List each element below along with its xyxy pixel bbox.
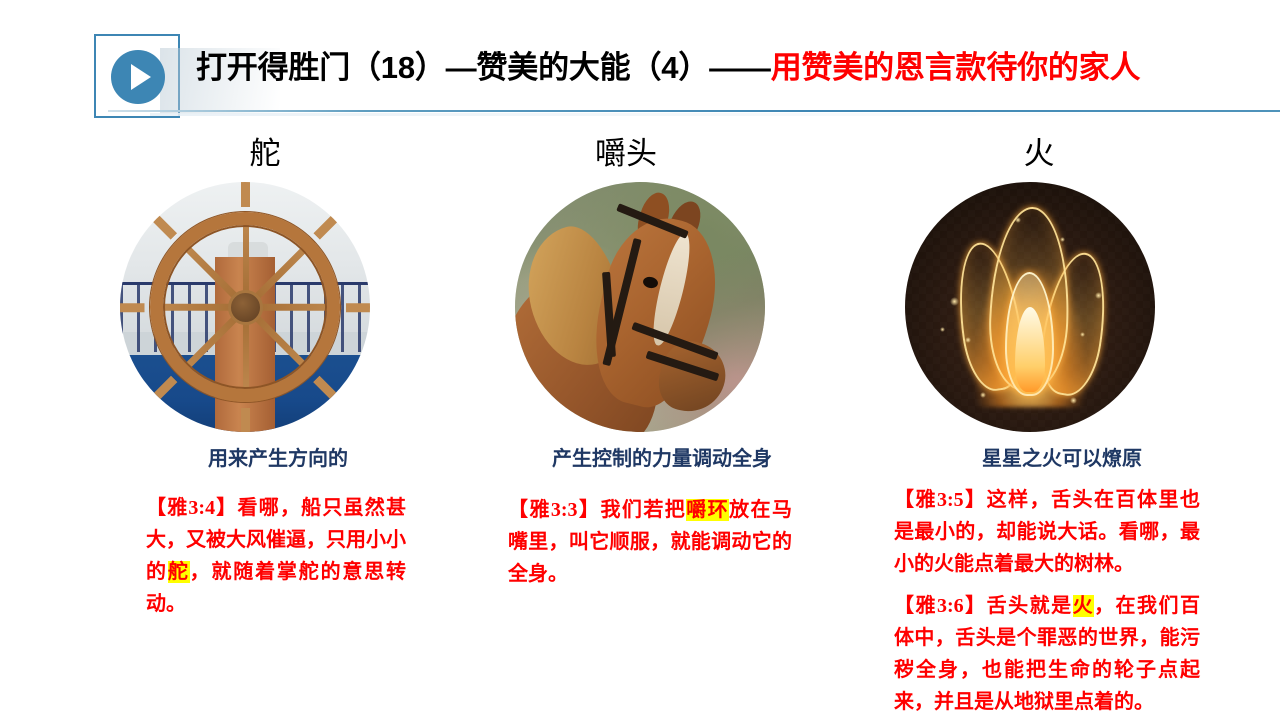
spark xyxy=(1060,237,1065,242)
ships-wheel-image xyxy=(120,182,370,432)
spark xyxy=(950,297,959,306)
column-caption: 产生控制的力量调动全身 xyxy=(514,446,810,472)
spark xyxy=(965,337,971,343)
scripture-ref: 【雅3:3】 xyxy=(508,499,600,521)
column-heading: 火 xyxy=(858,134,1220,174)
scripture-body-before: 舌头就是 xyxy=(987,595,1073,617)
column-heading: 舵 xyxy=(90,134,440,174)
spark xyxy=(1080,332,1085,337)
content-column-bridle: 嚼头 产生控制的力量调动全身 【雅3:3】我们若把嚼环放在马嘴里 xyxy=(480,134,810,590)
spark xyxy=(1070,397,1077,404)
header-divider-highlight xyxy=(150,113,1280,116)
scripture-text: 【雅3:4】看哪，船只虽然甚大，又被大风催逼，只用小小的舵，就随着掌舵的意思转动… xyxy=(146,492,406,620)
scripture-text: 【雅3:5】这样，舌头在百体里也是最小的，却能说大话。看哪，最小的火能点着最大的… xyxy=(894,484,1200,580)
content-column-fire: 火 星星之火可以燎原 【雅3 xyxy=(880,134,1220,718)
wheel-hub xyxy=(228,290,263,325)
play-triangle-icon xyxy=(131,64,151,90)
horse-head-image xyxy=(515,182,765,432)
column-heading: 嚼头 xyxy=(442,134,810,174)
page-title: 打开得胜门（18）—赞美的大能（4）——用赞美的恩言款待你的家人 xyxy=(196,48,1256,88)
spark xyxy=(980,392,986,398)
scripture-highlight: 嚼环 xyxy=(686,499,729,521)
content-column-rudder: 舵 用来产生方向的 xyxy=(110,134,440,620)
scripture-text: 【雅3:3】我们若把嚼环放在马嘴里，叫它顺服，就能调动它的全身。 xyxy=(508,494,792,590)
scripture-highlight: 舵 xyxy=(168,561,190,583)
title-accent: 用赞美的恩言款待你的家人 xyxy=(771,50,1141,85)
scripture-ref: 【雅3:6】 xyxy=(894,595,987,617)
scripture-body-before: 我们若把 xyxy=(600,499,686,521)
spark xyxy=(1095,292,1102,299)
spark xyxy=(1015,217,1021,223)
scripture-ref: 【雅3:5】 xyxy=(894,489,987,511)
column-caption: 用来产生方向的 xyxy=(116,446,440,472)
scripture-text: 【雅3:6】舌头就是火，在我们百体中，舌头是个罪恶的世界，能污秽全身，也能把生命… xyxy=(894,590,1200,718)
slide-header: 打开得胜门（18）—赞美的大能（4）——用赞美的恩言款待你的家人 xyxy=(0,0,1280,128)
title-main: 打开得胜门（18）—赞美的大能（4）—— xyxy=(196,50,771,85)
spark xyxy=(940,327,945,332)
scripture-highlight: 火 xyxy=(1073,595,1095,617)
column-caption: 星星之火可以燎原 xyxy=(904,446,1220,472)
flame-image xyxy=(905,182,1155,432)
header-divider xyxy=(108,110,1280,112)
scripture-ref: 【雅3:4】 xyxy=(146,497,238,519)
